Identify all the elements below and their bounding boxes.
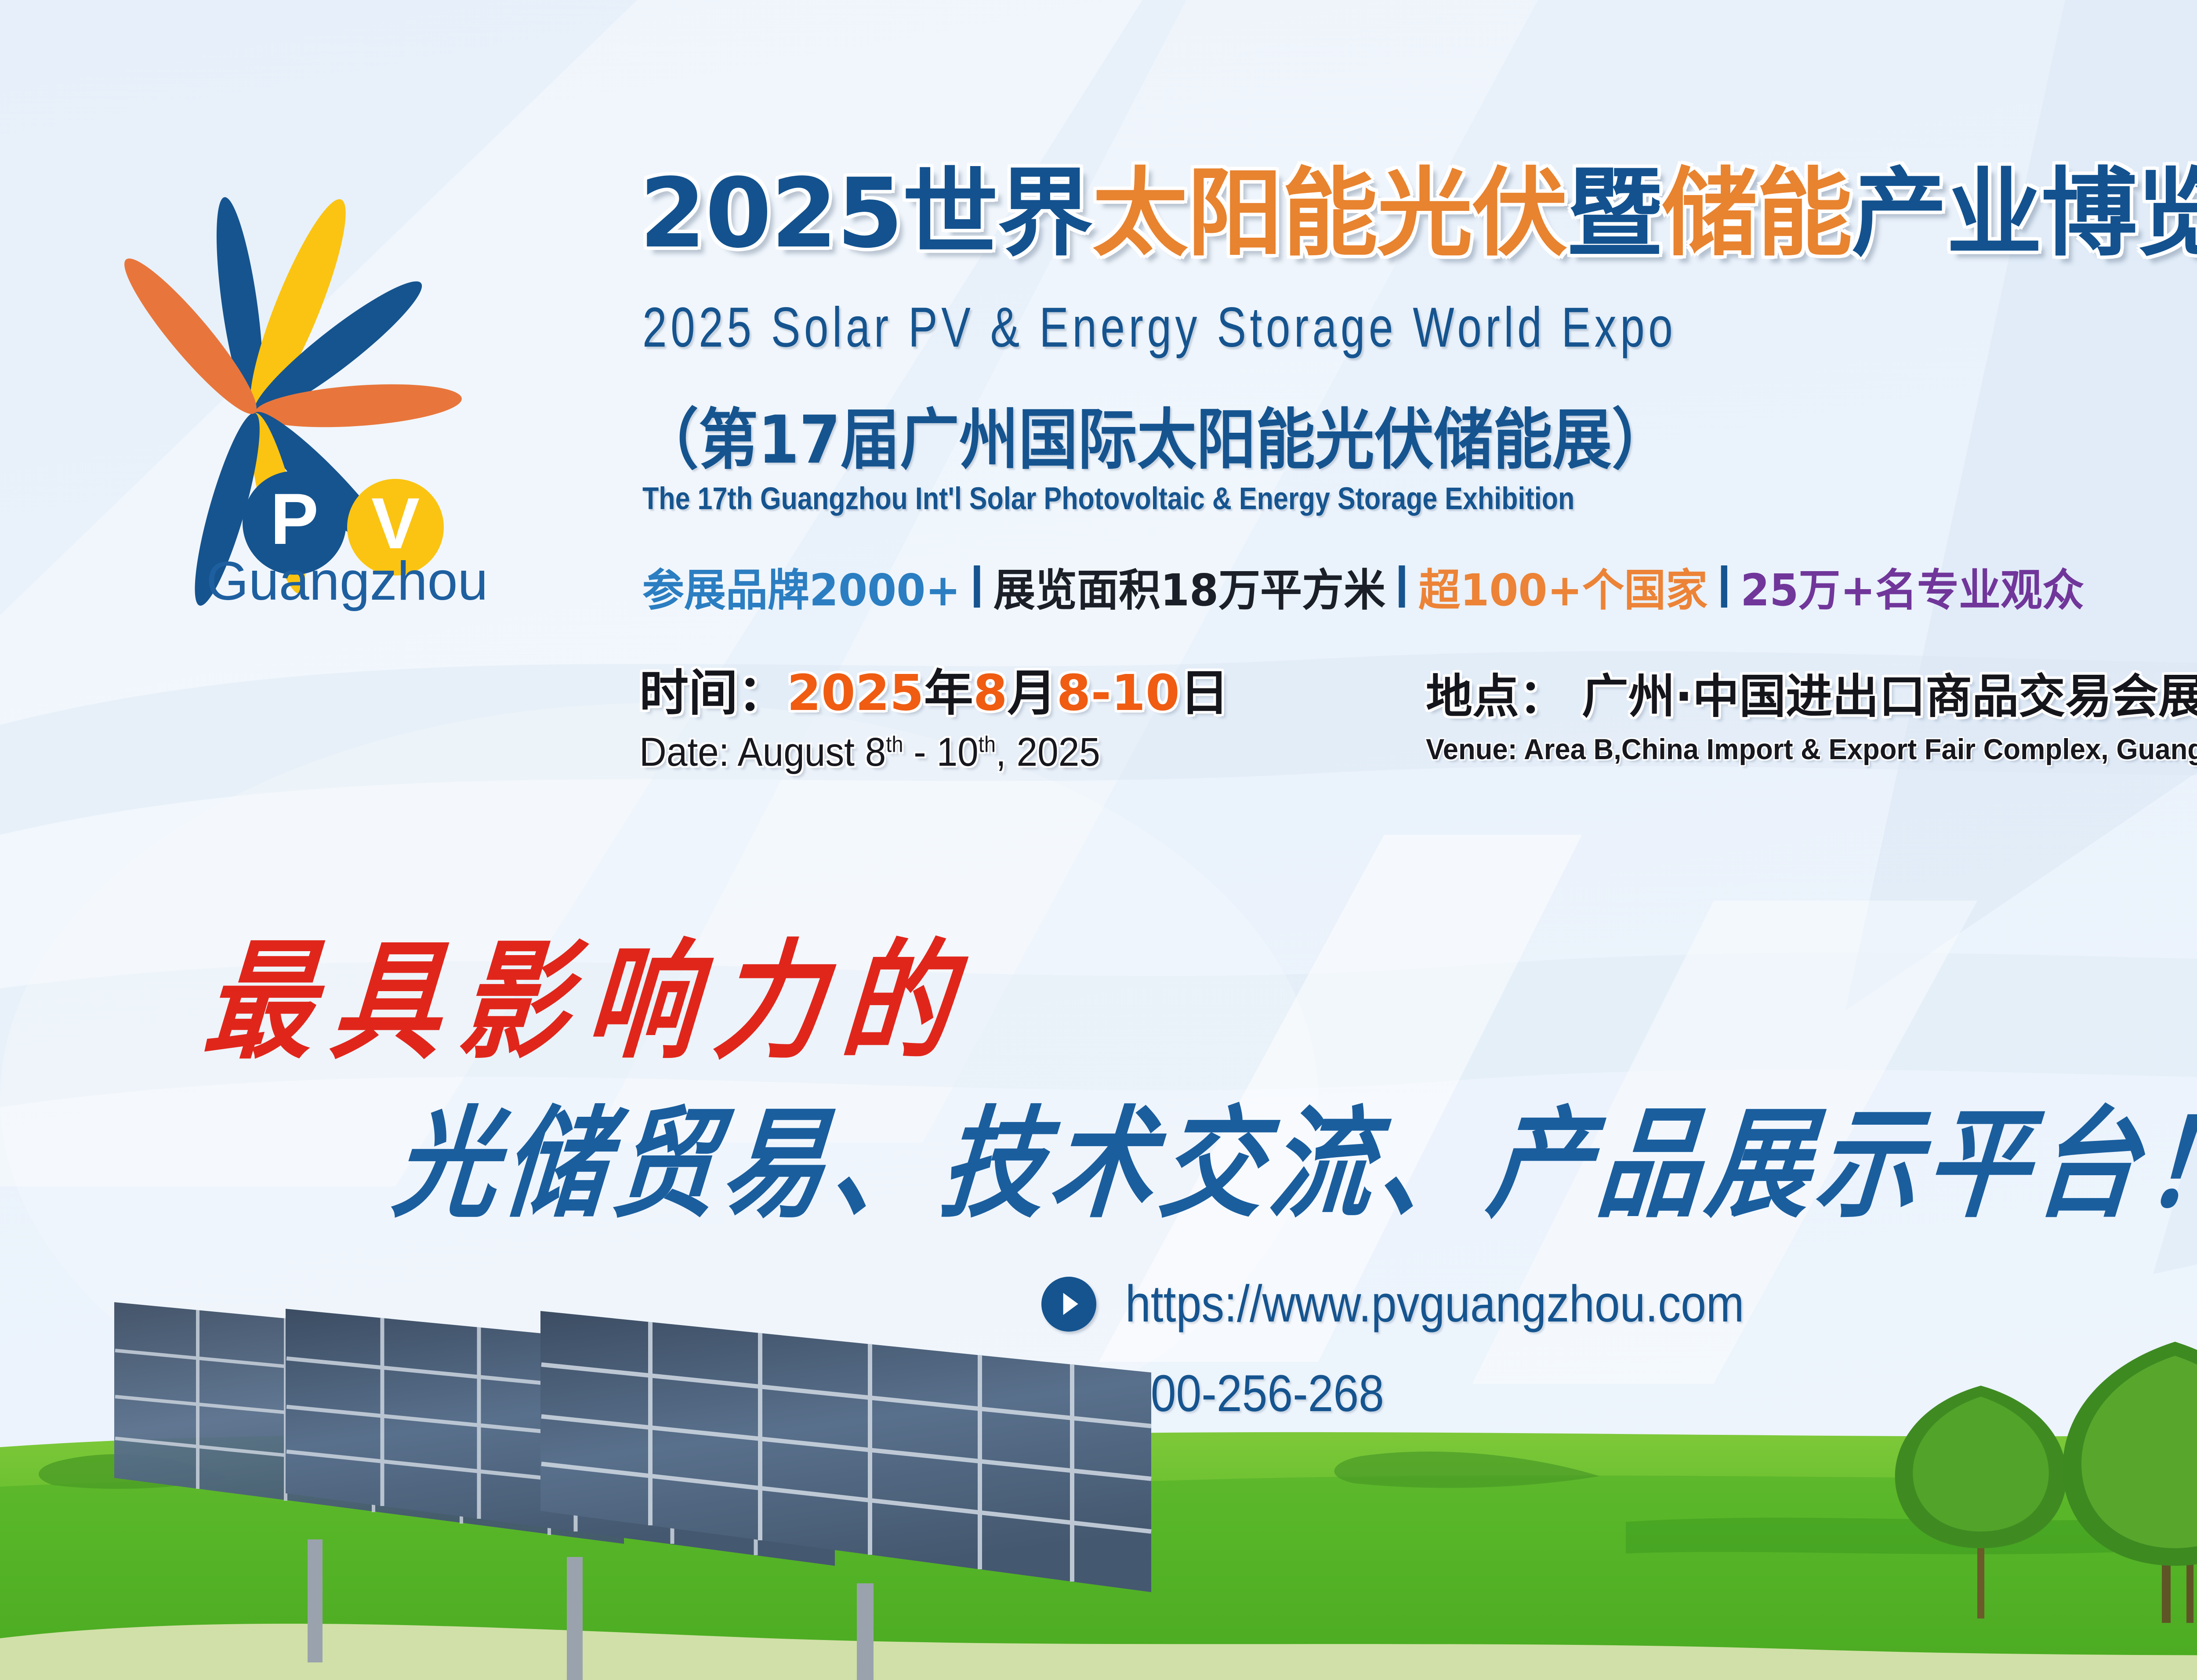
pv-guangzhou-logo: P V Guangzhou bbox=[48, 176, 589, 619]
landscape-scene bbox=[0, 1241, 2197, 1680]
main-title-part-1: 世界 bbox=[903, 158, 1092, 269]
date-en-sup2: th bbox=[979, 731, 996, 757]
main-title-part-0: 2025 bbox=[639, 158, 903, 269]
main-title-part-2: 太阳能光伏 bbox=[1092, 158, 1567, 269]
date-en-prefix: Date: August 8 bbox=[639, 730, 886, 775]
stat-area: 展览面积18万平方米 bbox=[993, 554, 1386, 618]
main-title: 2025世界太阳能光伏暨储能产业博览会 bbox=[639, 166, 2197, 262]
main-title-part-5: 产业博览会 bbox=[1852, 158, 2197, 269]
subtitle-chinese: （第17届广州国际太阳能光伏储能展） bbox=[639, 387, 1671, 482]
date-label: 时间： bbox=[639, 665, 787, 722]
date-en-sup1: th bbox=[886, 731, 903, 757]
stat-visitors: 25万+名专业观众 bbox=[1740, 554, 2085, 618]
date-en-mid: - 10 bbox=[903, 730, 979, 775]
logo-sunburst-icon: P V Guangzhou bbox=[48, 176, 589, 619]
date-line-chinese: 时间：2025年8月8-10日 bbox=[639, 668, 1426, 720]
date-year: 2025 bbox=[787, 665, 924, 722]
expo-banner: P V Guangzhou 2025世界太阳能光伏暨储能产业博览会 2025 S… bbox=[0, 0, 2197, 1680]
stat-separator bbox=[974, 565, 980, 608]
stat-separator bbox=[1721, 565, 1727, 608]
logo-letter-p: P bbox=[270, 478, 319, 559]
main-title-english: 2025 Solar PV & Energy Storage World Exp… bbox=[642, 295, 1676, 360]
stat-brands: 参展品牌2000+ bbox=[642, 554, 961, 618]
main-title-part-4: 储能 bbox=[1662, 158, 1852, 269]
subtitle-english: The 17th Guangzhou Int'l Solar Photovolt… bbox=[642, 481, 1574, 517]
venue-line-english: Venue: Area B,China Import & Export Fair… bbox=[1426, 732, 2197, 766]
stat-separator bbox=[1399, 565, 1405, 608]
main-title-part-3: 暨 bbox=[1567, 158, 1662, 269]
stats-row: 参展品牌2000+ 展览面积18万平方米 超100+个国家 25万+名专业观众 bbox=[642, 554, 2085, 618]
date-days: 8-10 bbox=[1057, 665, 1180, 722]
date-day-unit: 日 bbox=[1180, 665, 1229, 722]
stat-countries: 超100+个国家 bbox=[1418, 554, 1708, 618]
date-en-suffix: , 2025 bbox=[996, 730, 1100, 775]
landscape-illustration bbox=[0, 1241, 2197, 1680]
date-month: 8 bbox=[973, 665, 1008, 722]
date-venue-block: 时间：2025年8月8-10日 Date: August 8th - 10th,… bbox=[639, 668, 2197, 775]
slogan-line-1: 最具影响力的 bbox=[198, 898, 979, 1084]
date-line-english: Date: August 8th - 10th, 2025 bbox=[639, 729, 1371, 775]
date-month-unit: 月 bbox=[1008, 665, 1057, 722]
date-year-unit: 年 bbox=[924, 665, 973, 722]
venue-line-chinese: 地点： 广州·中国进出口商品交易会展馆B区 bbox=[1426, 672, 2197, 721]
slogan-line-2: 光储贸易、技术交流、产品展示平台！ bbox=[388, 1067, 2197, 1241]
venue-block: 地点： 广州·中国进出口商品交易会展馆B区 Venue: Area B,Chin… bbox=[1426, 668, 2197, 775]
date-block: 时间：2025年8月8-10日 Date: August 8th - 10th,… bbox=[639, 668, 1426, 775]
logo-city-label: Guangzhou bbox=[206, 551, 488, 612]
